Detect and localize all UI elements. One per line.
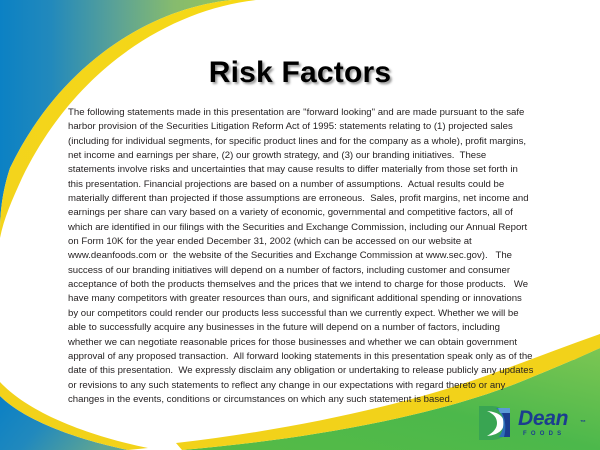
dean-foods-logo: Dean ™ FOODS [477,404,593,446]
risk-factors-body-text: The following statements made in this pr… [68,106,534,407]
trademark-symbol: ™ [580,420,586,426]
presentation-slide: Risk Factors The following statements ma… [0,0,600,450]
dean-foods-wordmark: Dean [518,407,568,430]
page-title: Risk Factors [0,56,600,90]
dean-foods-logo-mark-icon [477,404,517,442]
dean-foods-subtitle: FOODS [523,431,565,437]
